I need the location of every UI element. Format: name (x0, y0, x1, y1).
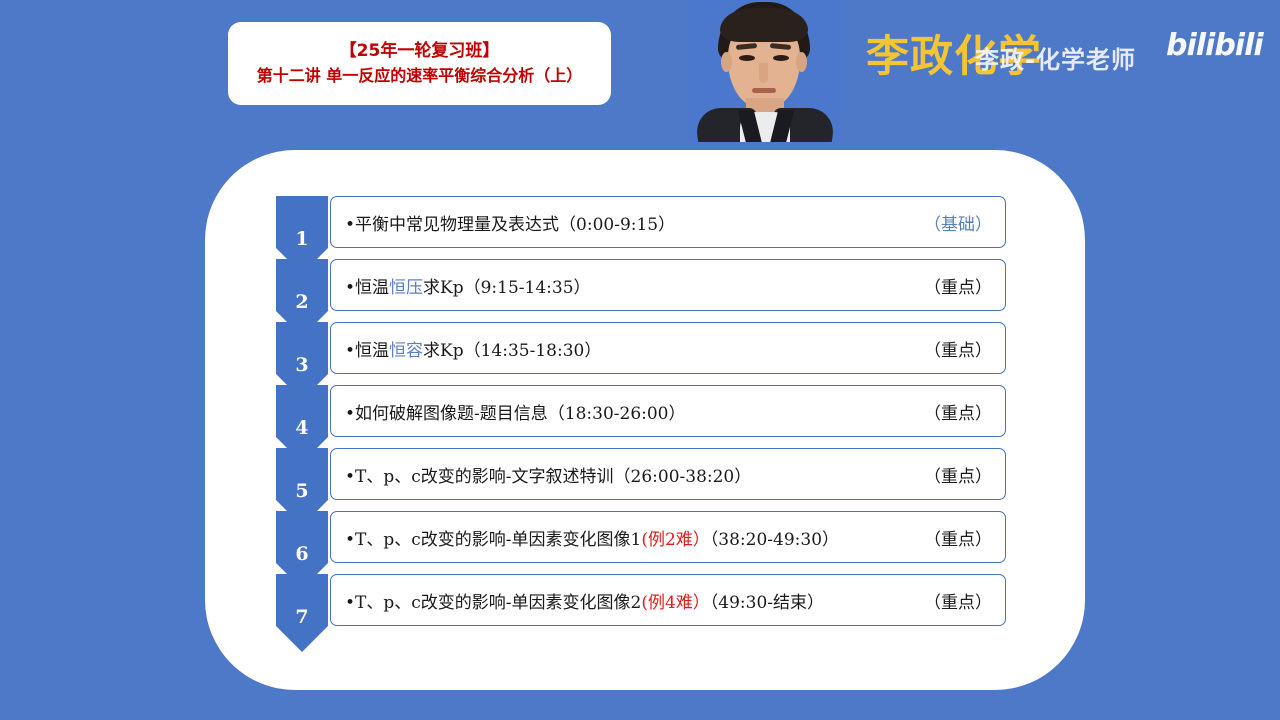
agenda-item-text: •恒温恒压求Kp（9:15-14:35） (345, 273, 591, 298)
agenda-item-box[interactable]: •恒温恒压求Kp（9:15-14:35）（重点） (330, 259, 1006, 311)
agenda-item-tag: （重点） (924, 336, 994, 361)
agenda-item-text-part: •如何破解图像题-题目信息（18:30-26:00） (345, 404, 686, 424)
agenda-item-box[interactable]: •平衡中常见物理量及表达式（0:00-9:15）（基础） (330, 196, 1006, 248)
course-series-label: 【25年一轮复习班】 (340, 39, 500, 65)
agenda-item-text-part: (例4难） (641, 593, 709, 613)
agenda-item-text-part: (例2难） (641, 530, 709, 550)
agenda-item-text-part: （38:20-49:30） (710, 530, 839, 550)
agenda-item-text-part: •T、p、c改变的影响-单因素变化图像1 (345, 530, 641, 550)
agenda-item-tag: （重点） (924, 525, 994, 550)
agenda-row[interactable]: 2•恒温恒压求Kp（9:15-14:35）（重点） (276, 259, 1006, 321)
agenda-item-text: •恒温恒容求Kp（14:35-18:30） (345, 336, 601, 361)
agenda-item-text-part: •T、p、c改变的影响-文字叙述特训（26:00-38:20） (345, 467, 751, 487)
agenda-item-text: •如何破解图像题-题目信息（18:30-26:00） (345, 399, 686, 424)
agenda-item-text-part: •T、p、c改变的影响-单因素变化图像2 (345, 593, 641, 613)
lesson-title: 第十二讲 单一反应的速率平衡综合分析（上） (257, 64, 583, 88)
agenda-item-text: •T、p、c改变的影响-单因素变化图像2(例4难）（49:30-结束） (345, 588, 824, 613)
agenda-row[interactable]: 1•平衡中常见物理量及表达式（0:00-9:15）（基础） (276, 196, 1006, 258)
agenda-item-box[interactable]: •T、p、c改变的影响-单因素变化图像1(例2难）（38:20-49:30）（重… (330, 511, 1006, 563)
presenter-ear-right (796, 52, 807, 72)
agenda-item-box[interactable]: •恒温恒容求Kp（14:35-18:30）（重点） (330, 322, 1006, 374)
lesson-title-card: 【25年一轮复习班】 第十二讲 单一反应的速率平衡综合分析（上） (228, 22, 611, 105)
agenda-item-tag: （重点） (924, 462, 994, 487)
agenda-item-text-part: •平衡中常见物理量及表达式（0:00-9:15） (345, 215, 675, 235)
agenda-item-text-part: 求Kp（9:15-14:35） (423, 278, 591, 298)
agenda-item-text-part: •恒温 (345, 278, 389, 298)
bilibili-logo: bilibili (1166, 28, 1263, 63)
agenda-item-tag: （基础） (924, 210, 994, 235)
agenda-row[interactable]: 7•T、p、c改变的影响-单因素变化图像2(例4难）（49:30-结束）（重点） (276, 574, 1006, 636)
agenda-item-text-part: 恒容 (389, 341, 423, 361)
chevron-down-icon (276, 574, 328, 654)
agenda-item-text-part: （49:30-结束） (710, 593, 824, 613)
agenda-item-text-part: 恒压 (389, 278, 423, 298)
presenter-eye-right (773, 55, 789, 61)
agenda-item-text-part: 求Kp（14:35-18:30） (423, 341, 601, 361)
agenda-item-box[interactable]: •如何破解图像题-题目信息（18:30-26:00）（重点） (330, 385, 1006, 437)
agenda-list: 1•平衡中常见物理量及表达式（0:00-9:15）（基础）2•恒温恒压求Kp（9… (276, 196, 1006, 637)
agenda-item-text: •T、p、c改变的影响-单因素变化图像1(例2难）（38:20-49:30） (345, 525, 839, 550)
agenda-row[interactable]: 6•T、p、c改变的影响-单因素变化图像1(例2难）（38:20-49:30）（… (276, 511, 1006, 573)
agenda-item-box[interactable]: •T、p、c改变的影响-文字叙述特训（26:00-38:20）（重点） (330, 448, 1006, 500)
presenter-hair-front (720, 8, 808, 42)
agenda-item-text: •平衡中常见物理量及表达式（0:00-9:15） (345, 210, 675, 235)
presenter-eye-left (739, 55, 755, 61)
agenda-item-tag: （重点） (924, 399, 994, 424)
presenter-video (688, 0, 840, 142)
agenda-item-box[interactable]: •T、p、c改变的影响-单因素变化图像2(例4难）（49:30-结束）（重点） (330, 574, 1006, 626)
presenter-ear-left (721, 52, 732, 72)
agenda-row[interactable]: 5•T、p、c改变的影响-文字叙述特训（26:00-38:20）（重点） (276, 448, 1006, 510)
agenda-row[interactable]: 4•如何破解图像题-题目信息（18:30-26:00）（重点） (276, 385, 1006, 447)
agenda-item-tag: （重点） (924, 273, 994, 298)
channel-watermark-white: 李政-化学老师 (975, 40, 1136, 75)
agenda-item-tag: （重点） (924, 588, 994, 613)
agenda-item-text: •T、p、c改变的影响-文字叙述特训（26:00-38:20） (345, 462, 751, 487)
agenda-row[interactable]: 3•恒温恒容求Kp（14:35-18:30）（重点） (276, 322, 1006, 384)
agenda-item-text-part: •恒温 (345, 341, 389, 361)
presenter-nose (759, 63, 768, 83)
presenter-mouth (752, 88, 776, 93)
